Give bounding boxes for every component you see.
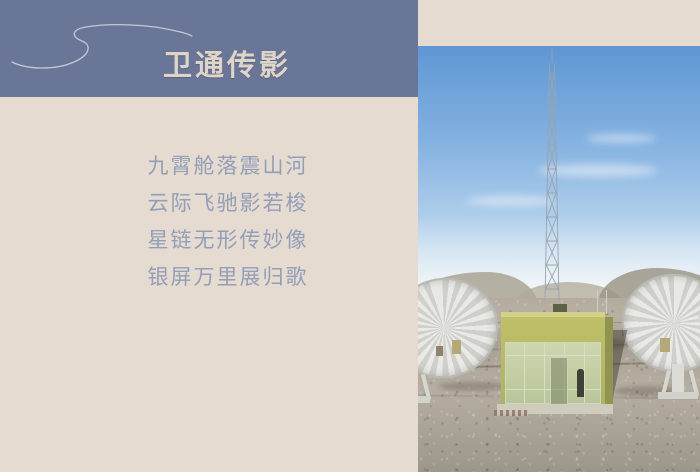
station-photo [418,46,700,472]
poem-line-2: 云际飞驰影若梭 [38,185,418,222]
glass-facade [505,342,601,404]
satellite-dish-right [614,274,700,400]
poem-line-1: 九霄舱落震山河 [38,148,418,185]
mullion [544,343,545,403]
equipment-box [452,340,461,354]
transom [506,355,600,356]
dish-rim [616,267,700,379]
building-parapet [501,312,605,317]
poem-line-3: 星链无形传妙像 [38,222,418,259]
header-band: 卫通传影 [0,0,418,97]
control-building [501,312,613,411]
building-side-wall [605,317,613,406]
roof-ladder [597,290,607,314]
mullion [524,343,525,403]
lattice-tower-icon [541,49,563,301]
page-title: 卫通传影 [0,52,418,81]
equipment-box [436,346,443,356]
dish-rim [418,269,506,386]
cloud-wisp [586,134,656,143]
equipment-box [660,338,670,352]
mullion [584,343,585,403]
person-silhouette [577,369,584,397]
debris-pile [494,410,528,416]
entrance-door [550,357,568,405]
text-column: 卫通传影 九霄舱落震山河 云际飞驰影若梭 星链无形传妙像 银屏万里展归歌 [0,0,418,472]
poster-canvas: 卫通传影 九霄舱落震山河 云际飞驰影若梭 星链无形传妙像 银屏万里展归歌 [0,0,700,472]
poem-line-4: 银屏万里展归歌 [38,259,418,296]
dish-base [658,392,698,399]
poem-block: 九霄舱落震山河 云际飞驰影若梭 星链无形传妙像 银屏万里展归歌 [0,148,418,296]
dish-base [418,396,430,403]
